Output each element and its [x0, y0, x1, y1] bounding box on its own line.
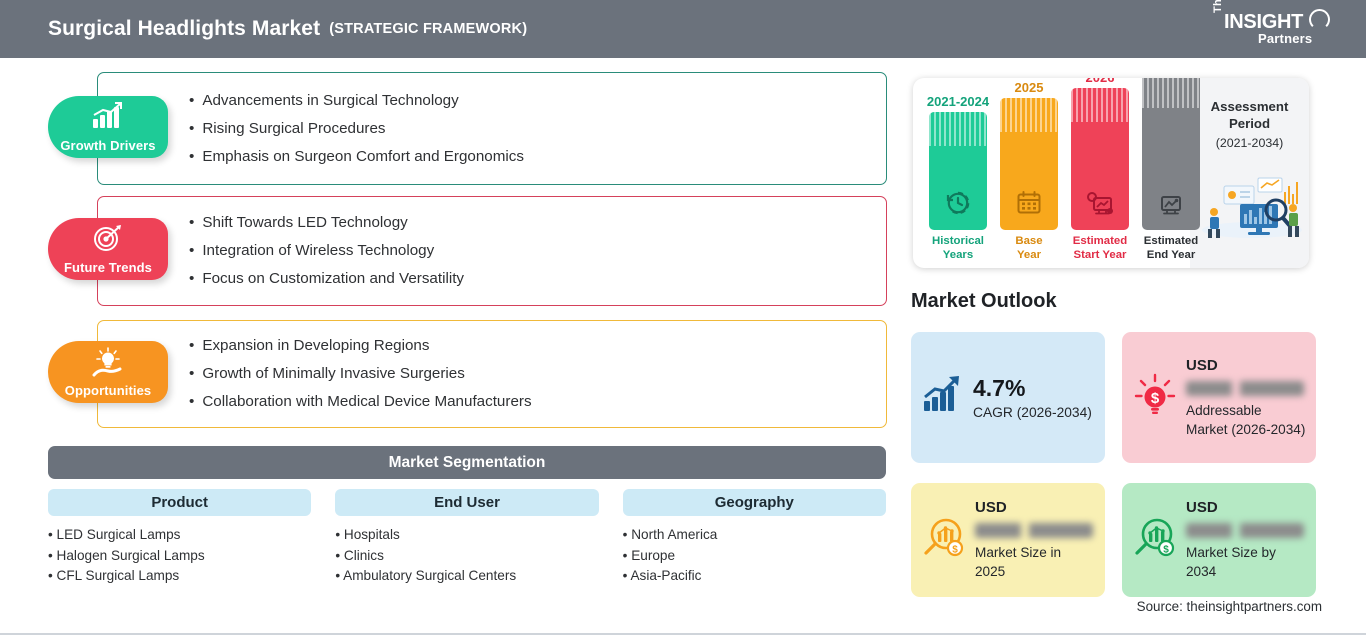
cagr-value: 4.7%	[973, 375, 1092, 402]
bar-stripes	[929, 112, 987, 146]
segmentation-column-geography: Geography North America Europe Asia-Paci…	[623, 489, 886, 587]
badge-opportunities[interactable]: Opportunities	[48, 341, 168, 403]
svg-text:$: $	[1151, 390, 1160, 407]
column-list: LED Surgical Lamps Halogen Surgical Lamp…	[48, 525, 311, 587]
list-item: Ambulatory Surgical Centers	[335, 566, 598, 587]
calendar-icon	[1016, 190, 1042, 221]
size-2025-text: USD lorem ipsum Market Size in 2025	[975, 499, 1095, 581]
cagr-label: CAGR (2026-2034)	[973, 405, 1092, 420]
timeline-item-historical: 2021-2024 Historical Years	[929, 94, 987, 262]
assessment-timeline-panel: 2021-2024 Historical Years	[913, 78, 1309, 268]
list-item: Growth of Minimally Invasive Surgeries	[189, 360, 532, 388]
bar-stripes	[1142, 78, 1200, 108]
currency-label: USD	[975, 499, 1095, 516]
list-item: Europe	[623, 546, 886, 567]
bar-chart-arrow-icon	[921, 375, 965, 420]
assessment-range: (2021-2034)	[1216, 136, 1284, 150]
timeline-bar	[1071, 88, 1129, 230]
pillar-growth-drivers: Growth Drivers Advancements in Surgical …	[97, 72, 887, 185]
badge-growth-drivers[interactable]: Growth Drivers	[48, 96, 168, 158]
currency-label: USD	[1186, 499, 1306, 516]
bar-stripes	[1000, 98, 1058, 132]
timeline-item-base: 2025	[1000, 80, 1058, 262]
list-item: Hospitals	[335, 525, 598, 546]
outlook-card-market-size-2034[interactable]: $ USD lorem ipsum Market Size by 2034	[1122, 483, 1316, 597]
list-item: North America	[623, 525, 886, 546]
timeline-year: 2021-2024	[927, 94, 989, 109]
lightbulb-hand-icon	[91, 347, 125, 382]
target-dart-icon	[92, 224, 124, 257]
bar-stripes	[1071, 88, 1129, 122]
timeline-bars: 2021-2024 Historical Years	[913, 78, 1190, 268]
magnifier-chart-dollar-icon: $	[921, 515, 967, 566]
masked-value: lorem ipsum	[1186, 381, 1304, 396]
monitor-chart-icon	[1157, 192, 1185, 221]
infographic-page: Surgical Headlights Market (STRATEGIC FR…	[0, 0, 1366, 635]
list-item: Asia-Pacific	[623, 566, 886, 587]
badge-label: Opportunities	[65, 384, 152, 398]
list-item: Emphasis on Surgeon Comfort and Ergonomi…	[189, 143, 524, 171]
segmentation-column-product: Product LED Surgical Lamps Halogen Surgi…	[48, 489, 311, 587]
timeline-caption: Historical Years	[932, 235, 984, 262]
svg-text:$: $	[1163, 544, 1169, 555]
page-header: Surgical Headlights Market (STRATEGIC FR…	[0, 0, 1366, 58]
monitor-settings-icon	[1086, 192, 1114, 221]
badge-future-trends[interactable]: Future Trends	[48, 218, 168, 280]
source-attribution: Source: theinsightpartners.com	[1137, 599, 1322, 614]
column-header: Geography	[623, 489, 886, 516]
pillar-opportunities: Opportunities Expansion in Developing Re…	[97, 320, 887, 428]
masked-value: lorem ipsum	[1186, 523, 1304, 538]
data-analysis-illustration	[1196, 174, 1304, 245]
list-item: Focus on Customization and Versatility	[189, 265, 464, 293]
outlook-card-cagr[interactable]: 4.7% CAGR (2026-2034)	[911, 332, 1105, 463]
timeline-bar	[929, 112, 987, 230]
timeline-caption: Base Year	[1015, 235, 1042, 262]
timeline-bar	[1142, 78, 1200, 230]
market-segmentation-header: Market Segmentation	[48, 446, 886, 479]
column-header: End User	[335, 489, 598, 516]
pillar-bullet-list: Expansion in Developing Regions Growth o…	[189, 320, 532, 428]
magnifier-chart-dollar-icon: $	[1132, 515, 1178, 566]
growth-chart-arrow-icon	[91, 102, 125, 135]
lightbulb-dollar-icon: $	[1132, 372, 1178, 423]
list-item: Integration of Wireless Technology	[189, 237, 464, 265]
timeline-item-estimated-end: 2034 Estimated End Year	[1142, 78, 1200, 262]
assessment-period-panel: Assessment Period (2021-2034)	[1190, 78, 1309, 268]
addressable-text: USD lorem ipsum Addressable Market (2026…	[1186, 357, 1306, 439]
outlook-card-market-size-2025[interactable]: $ USD lorem ipsum Market Size in 2025	[911, 483, 1105, 597]
column-header: Product	[48, 489, 311, 516]
list-item: CFL Surgical Lamps	[48, 566, 311, 587]
card-label: Market Size in 2025	[975, 543, 1095, 581]
assessment-title: Assessment Period	[1211, 98, 1289, 132]
list-item: LED Surgical Lamps	[48, 525, 311, 546]
badge-label: Future Trends	[64, 261, 152, 275]
list-item: Halogen Surgical Lamps	[48, 546, 311, 567]
cagr-text: 4.7% CAGR (2026-2034)	[973, 375, 1092, 420]
logo-partners-text: Partners	[1258, 31, 1312, 46]
market-outlook-title: Market Outlook	[911, 290, 1057, 313]
card-label: Addressable Market (2026-2034)	[1186, 401, 1306, 439]
logo-the-text: The	[1212, 0, 1224, 13]
outlook-card-addressable-market[interactable]: $ USD lorem ipsum Addressable Market (20…	[1122, 332, 1316, 463]
column-list: Hospitals Clinics Ambulatory Surgical Ce…	[335, 525, 598, 587]
size-2034-text: USD lorem ipsum Market Size by 2034	[1186, 499, 1306, 581]
badge-label: Growth Drivers	[60, 139, 155, 153]
timeline-caption: Estimated End Year	[1144, 235, 1198, 262]
segmentation-columns: Product LED Surgical Lamps Halogen Surgi…	[48, 489, 886, 587]
list-item: Collaboration with Medical Device Manufa…	[189, 388, 532, 416]
currency-label: USD	[1186, 357, 1306, 374]
pillar-bullet-list: Advancements in Surgical Technology Risi…	[189, 72, 524, 185]
list-item: Shift Towards LED Technology	[189, 209, 464, 237]
logo-arc-icon	[1309, 9, 1330, 30]
list-item: Clinics	[335, 546, 598, 567]
column-list: North America Europe Asia-Pacific	[623, 525, 886, 587]
list-item: Expansion in Developing Regions	[189, 332, 532, 360]
timeline-caption: Estimated Start Year	[1073, 235, 1127, 262]
timeline-year: 2026	[1086, 78, 1115, 85]
svg-text:$: $	[952, 544, 958, 555]
list-item: Rising Surgical Procedures	[189, 115, 524, 143]
pillar-future-trends: Future Trends Shift Towards LED Technolo…	[97, 196, 887, 306]
timeline-item-estimated-start: 2026 Estimated Star	[1071, 78, 1129, 262]
segmentation-column-end-user: End User Hospitals Clinics Ambulatory Su…	[335, 489, 598, 587]
timeline-bar	[1000, 98, 1058, 230]
pillar-bullet-list: Shift Towards LED Technology Integration…	[189, 196, 464, 306]
history-clock-icon	[945, 190, 971, 221]
page-subtitle: (STRATEGIC FRAMEWORK)	[329, 21, 527, 37]
insight-partners-logo: The INSIGHT Partners	[1212, 9, 1332, 51]
list-item: Advancements in Surgical Technology	[189, 87, 524, 115]
card-label: Market Size by 2034	[1186, 543, 1306, 581]
masked-value: lorem ipsum	[975, 523, 1093, 538]
timeline-year: 2025	[1015, 80, 1044, 95]
page-title: Surgical Headlights Market	[48, 17, 320, 41]
